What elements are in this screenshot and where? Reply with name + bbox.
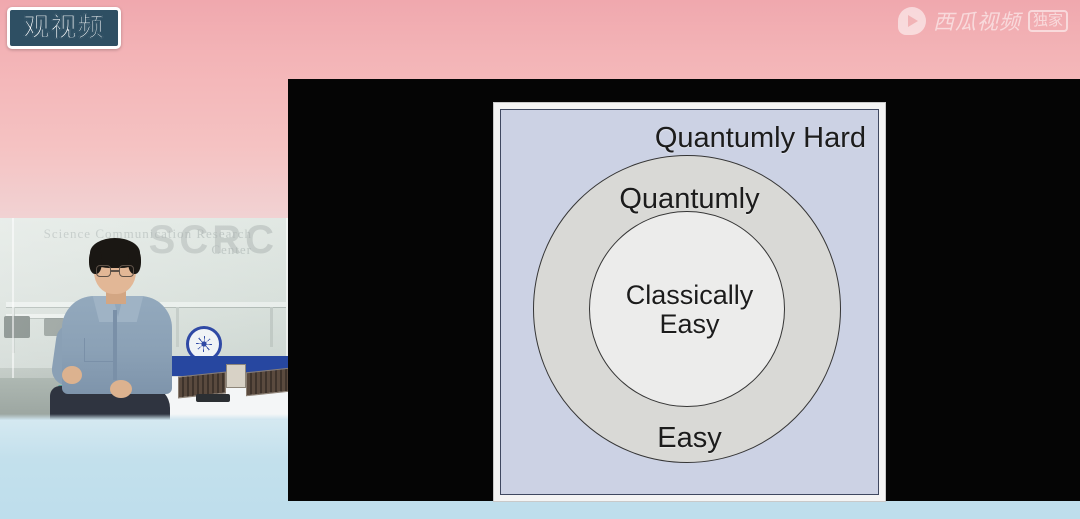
person-hand	[110, 380, 132, 398]
platform-watermark: 西瓜视频 独家	[898, 6, 1068, 36]
channel-logo: 观视频	[7, 7, 121, 49]
play-circle-icon	[898, 7, 926, 35]
satellite-body	[226, 364, 246, 388]
label-quantumly: Quantumly	[501, 183, 878, 216]
shirt-pocket	[84, 338, 114, 362]
person-hand	[62, 366, 82, 384]
satellite-solar-panel	[246, 368, 288, 397]
video-frame: 观视频 西瓜视频 独家 Quantumly Hard Quantumly Cla…	[0, 0, 1080, 519]
speaker-video-inset: Science Communication Research Center SC…	[0, 218, 288, 420]
glass-seam	[286, 218, 288, 378]
glass-seam	[12, 218, 14, 378]
label-classically-easy: Classically Easy	[501, 281, 878, 339]
label-classically-line2: Easy	[501, 310, 878, 339]
label-classically-line1: Classically	[501, 281, 878, 310]
desk-device	[196, 394, 230, 402]
label-quantumly-hard: Quantumly Hard	[655, 122, 866, 155]
diagram-canvas: Quantumly Hard Quantumly Classically Eas…	[500, 109, 879, 495]
diagram-card: Quantumly Hard Quantumly Classically Eas…	[494, 103, 885, 501]
watermark-exclusive-badge: 独家	[1028, 10, 1068, 32]
inset-bottom-fade	[0, 414, 288, 420]
lab-scene: Science Communication Research Center SC…	[0, 218, 288, 420]
label-easy: Easy	[501, 422, 878, 455]
eyeglasses-icon	[96, 265, 134, 277]
watermark-platform-label: 西瓜视频	[933, 6, 1021, 36]
channel-logo-label: 观视频	[23, 15, 104, 41]
